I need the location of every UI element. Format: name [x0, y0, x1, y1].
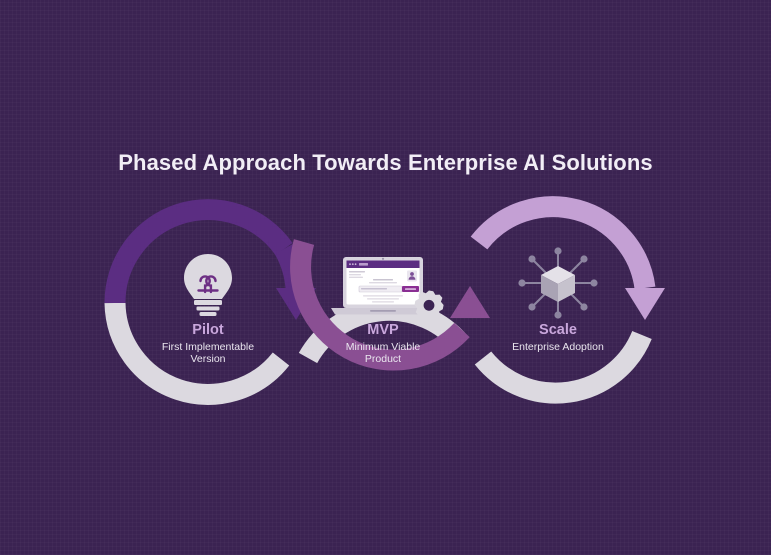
stage-title-scale: Scale: [463, 322, 653, 339]
network-cube-icon: [518, 247, 597, 318]
stage-label-mvp: MVP Minimum Viable Product: [288, 322, 478, 366]
stage-label-scale: Scale Enterprise Adoption: [463, 322, 653, 353]
infographic-canvas: Phased Approach Towards Enterprise AI So…: [0, 0, 771, 555]
stage-subtitle-pilot: First Implementable Version: [113, 341, 303, 366]
stage-subtitle-mvp: Minimum Viable Product: [288, 341, 478, 366]
stage-subtitle-scale: Enterprise Adoption: [463, 341, 653, 353]
stage-title-mvp: MVP: [288, 322, 478, 339]
lightbulb-icon: [184, 254, 232, 316]
arrow-up-mvp-to-scale: [450, 286, 490, 318]
stage-label-pilot: Pilot First Implementable Version: [113, 322, 303, 366]
arrow-down-scale-loop: [625, 288, 665, 320]
laptop-gear-icon: [331, 257, 444, 320]
stage-title-pilot: Pilot: [113, 322, 303, 339]
process-cycle-diagram: [0, 0, 771, 555]
stage-ring-scale[interactable]: [479, 207, 665, 393]
